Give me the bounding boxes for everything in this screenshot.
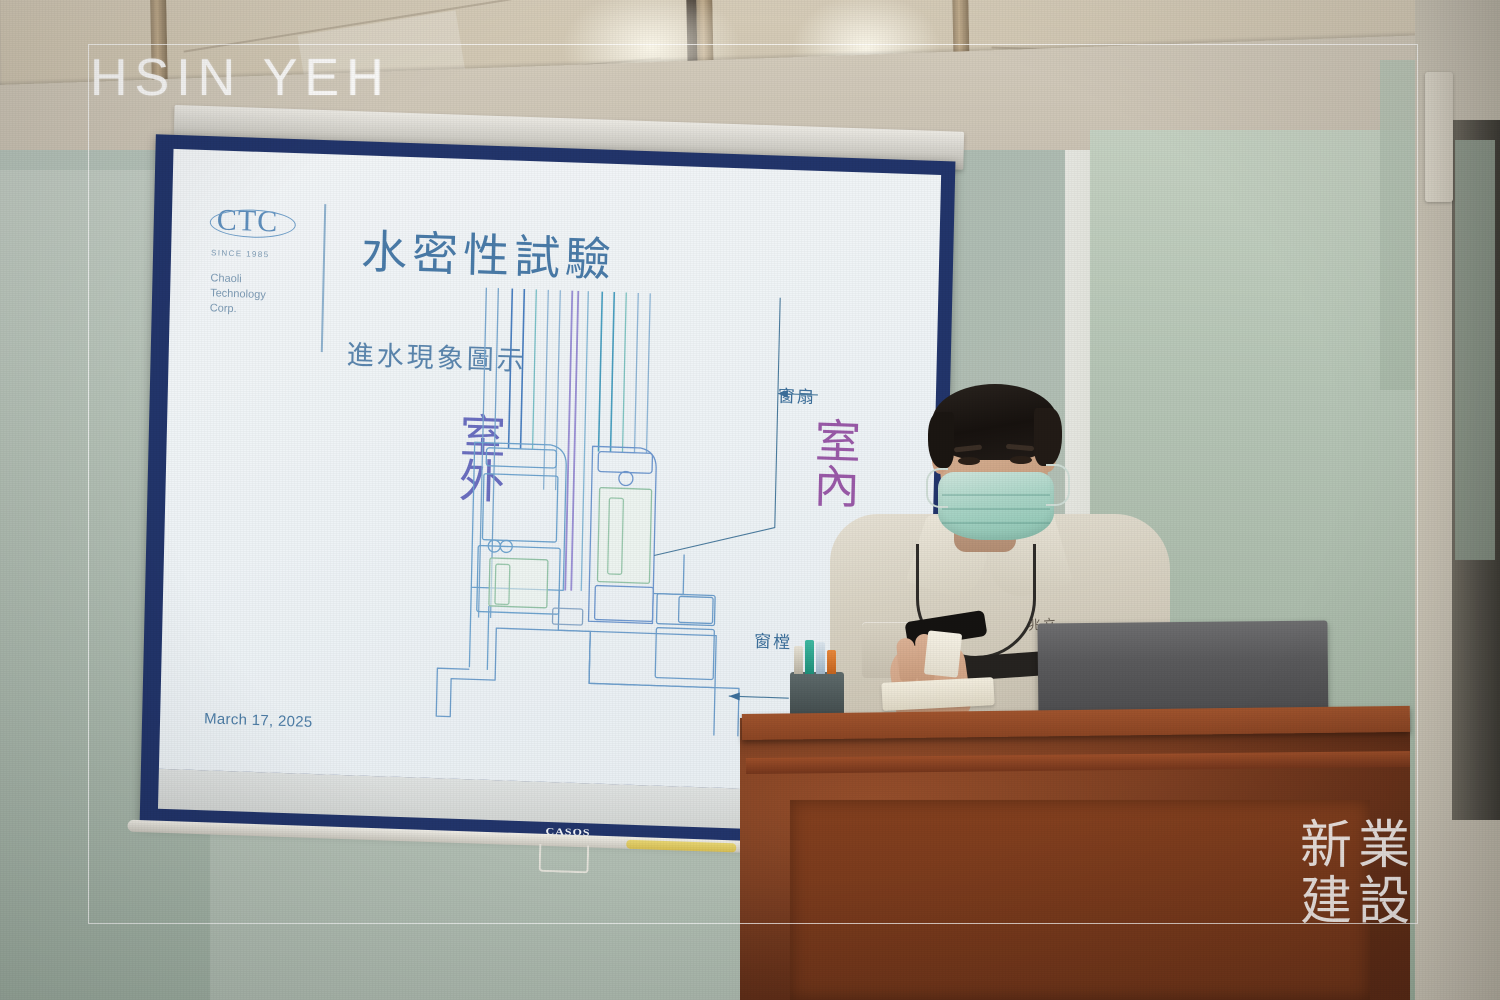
- window-cross-section-diagram: [428, 286, 838, 739]
- logo-company-line2: Technology: [210, 287, 266, 301]
- logo-since-text: SINCE 1985: [211, 248, 301, 260]
- logo-company-line3: Corp.: [210, 302, 237, 315]
- watermark-brand-latin: HSIN YEH: [76, 48, 405, 108]
- logo-company-name: Chaoli Technology Corp.: [210, 271, 301, 319]
- slide-date: March 17, 2025: [204, 710, 313, 731]
- hair-left-side: [928, 412, 954, 468]
- logo-divider: [321, 204, 326, 352]
- held-paper: [924, 630, 962, 677]
- screen-pull-hook-icon[interactable]: [539, 844, 590, 874]
- mask-strap-left: [926, 468, 948, 508]
- door-glass: [1455, 140, 1495, 560]
- eye-right: [1010, 456, 1032, 464]
- paper-on-podium: [881, 677, 994, 711]
- pen-holder: [790, 672, 844, 716]
- wall-control-plate[interactable]: [1425, 72, 1453, 202]
- ctc-logo: CTC SINCE 1985 Chaoli Technology Corp.: [210, 202, 303, 319]
- watermark-brand-chinese: 新業 建設: [1300, 818, 1430, 930]
- podium-front-panel: [790, 800, 1370, 1000]
- logo-mark: CTC: [211, 202, 283, 240]
- hair-right-side: [1034, 408, 1062, 466]
- surgical-mask: [938, 472, 1054, 540]
- watermark-chinese-line1: 新業: [1300, 818, 1430, 874]
- logo-company-line1: Chaoli: [210, 272, 241, 285]
- slide-title: 水密性試驗: [360, 215, 616, 290]
- watermark-chinese-line2: 建設: [1300, 874, 1430, 930]
- photo-scene: CTC SINCE 1985 Chaoli Technology Corp. 水…: [0, 0, 1500, 1000]
- eye-left: [958, 457, 980, 465]
- mask-strap-right: [1046, 464, 1070, 506]
